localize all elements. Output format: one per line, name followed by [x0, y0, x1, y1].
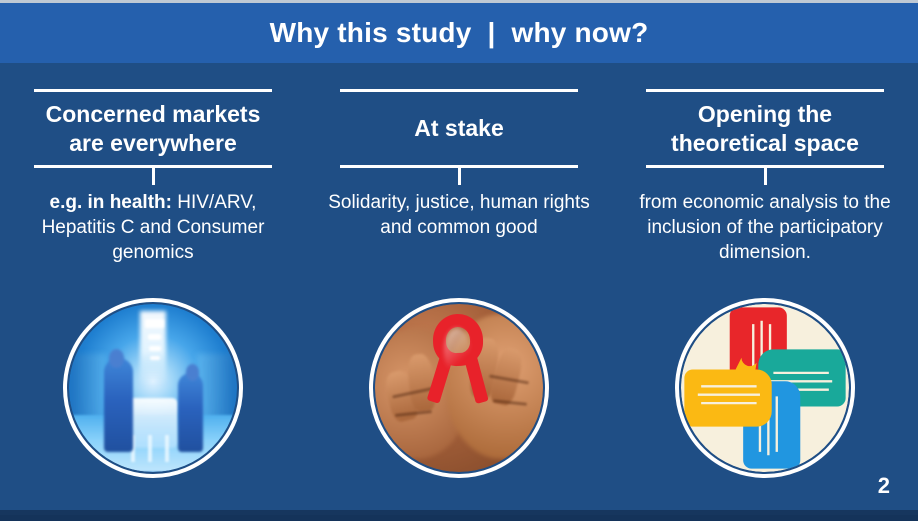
column-heading: At stake [334, 114, 584, 143]
ceiling-light [145, 319, 163, 327]
medical-staff-figure [178, 373, 203, 452]
ribbon-highlight [444, 328, 470, 374]
hospital-scene [69, 304, 237, 472]
column-opening-theoretical-space: Opening the theoretical space from econo… [612, 63, 918, 521]
column-mid-rule [340, 165, 578, 168]
hands-holding-ribbon-scene [375, 304, 543, 472]
hospital-corridor-media [69, 304, 237, 472]
column-heading-box: At stake [334, 92, 584, 165]
gurney-leg [148, 435, 152, 462]
hospital-corridor-photo [63, 298, 243, 478]
column-at-stake: At stake Solidarity, justice, human righ… [306, 63, 612, 521]
rule-tick [764, 168, 767, 185]
column-heading: Concerned markets are everywhere [28, 100, 278, 158]
corridor-wall-left [69, 354, 106, 421]
rule-tick [152, 168, 155, 185]
slide: Why this study | why now? Concerned mark… [0, 0, 918, 521]
red-awareness-ribbon-icon [425, 314, 493, 469]
teamwork-scene [681, 304, 849, 472]
column-body-text: e.g. in health: HIV/ARV, Hepatitis C and… [22, 190, 284, 265]
column-body-text: Solidarity, justice, human rights and co… [328, 190, 590, 240]
column-body-rest: Solidarity, justice, human rights and co… [328, 192, 590, 238]
column-concerned-markets: Concerned markets are everywhere e.g. in… [0, 63, 306, 521]
teamwork-media [681, 304, 849, 472]
medical-staff-figure [104, 358, 133, 452]
red-aids-ribbon-in-hands-photo [369, 298, 549, 478]
column-mid-rule [34, 165, 272, 168]
four-hands-svg [681, 304, 849, 472]
column-body-emphasis: e.g. in health: [50, 192, 172, 213]
four-hands-teamwork-icon [675, 298, 855, 478]
ceiling-light [150, 356, 160, 360]
title-banner: Why this study | why now? [0, 0, 918, 63]
column-mid-rule [646, 165, 884, 168]
ceiling-light [149, 346, 161, 351]
column-heading-box: Opening the theoretical space [640, 92, 890, 165]
rule-tick [458, 168, 461, 185]
column-heading: Opening the theoretical space [640, 100, 890, 158]
columns-container: Concerned markets are everywhere e.g. in… [0, 63, 918, 521]
column-body-text: from economic analysis to the inclusion … [634, 190, 896, 265]
ceiling-light [148, 334, 161, 340]
ribbon-media [375, 304, 543, 472]
gurney-leg [165, 435, 169, 462]
column-body-rest: from economic analysis to the inclusion … [639, 192, 890, 263]
column-heading-box: Concerned markets are everywhere [28, 92, 278, 165]
page-number: 2 [878, 473, 890, 499]
page-title: Why this study | why now? [270, 17, 649, 49]
